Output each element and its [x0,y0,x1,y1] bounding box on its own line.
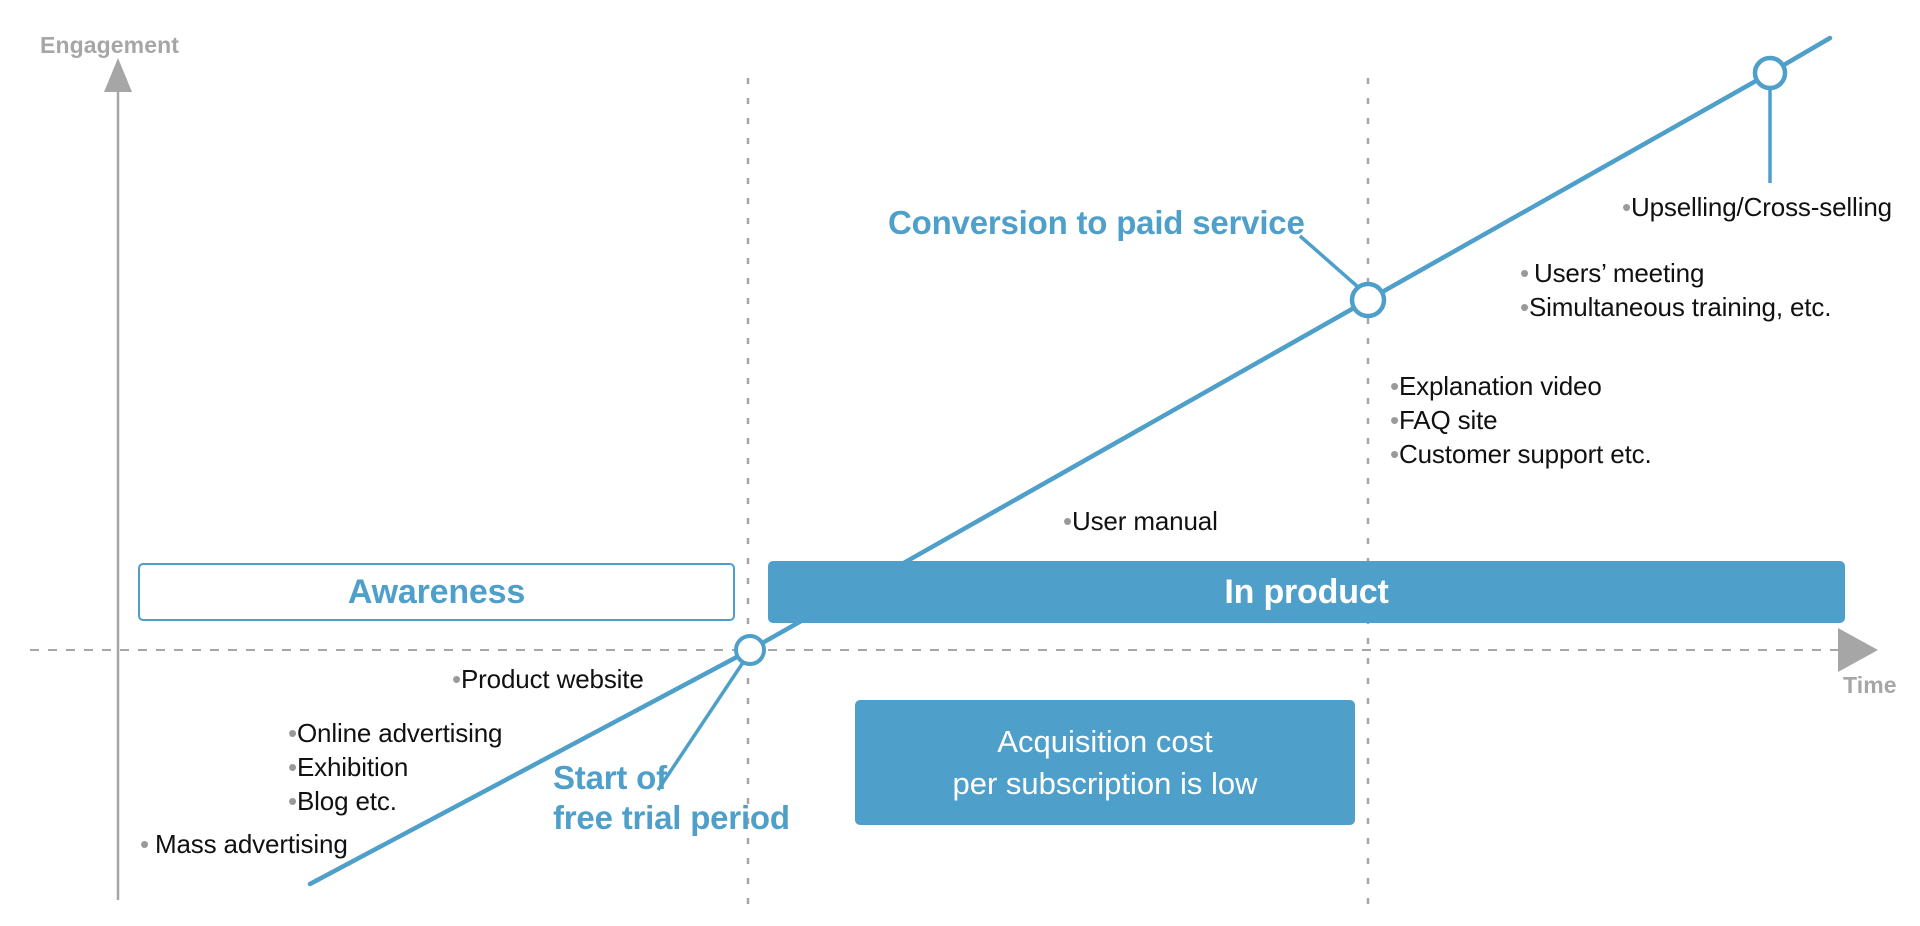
bullet-group-support: •Explanation video •FAQ site •Customer s… [1390,369,1652,471]
callout-start-free-trial: Start of free trial period [553,758,790,838]
callout-start-free-trial-line-2: free trial period [553,798,790,838]
bullet-product-website: •Product website [452,662,644,696]
bullet-upselling: •Upselling/Cross-selling [1622,190,1892,224]
y-axis-label: Engagement [40,32,179,59]
bullet-dot-icon: • [1063,506,1072,536]
bullet-exhibition-label: Exhibition [297,752,408,782]
list-item: •Customer support etc. [1390,437,1652,471]
bullet-mass-advertising-label: Mass advertising [149,829,348,859]
callout-conversion-to-paid-service: Conversion to paid service [888,203,1305,243]
phase-box-awareness-label: Awareness [348,573,525,612]
acquisition-cost-line-1: Acquisition cost [997,721,1212,763]
y-axis-arrow-icon [104,58,132,92]
bullet-blog-label: Blog etc. [297,786,397,816]
bullet-dot-icon: • [288,718,297,748]
bullet-dot-icon: • [1622,192,1631,222]
bullet-faq-site-label: FAQ site [1399,405,1498,435]
bullet-mass-advertising: •Mass advertising [140,827,348,861]
list-item: •Blog etc. [288,784,502,818]
bullet-dot-icon: • [288,752,297,782]
leader-line-conversion [1300,236,1366,294]
bullet-product-website-label: Product website [461,664,644,694]
bullet-dot-icon: • [1390,371,1399,401]
bullet-group-engagement: •Users’ meeting •Simultaneous training, … [1520,256,1831,324]
bullet-dot-icon: • [288,786,297,816]
x-axis-label: Time [1843,672,1897,699]
list-item: •Users’ meeting [1520,256,1831,290]
bullet-dot-icon: • [452,664,461,694]
marker-upselling [1755,58,1785,88]
bullet-dot-icon: • [1520,292,1529,322]
bullet-dot-icon: • [1390,439,1399,469]
list-item: •Explanation video [1390,369,1652,403]
list-item: •Simultaneous training, etc. [1520,290,1831,324]
acquisition-cost-box[interactable]: Acquisition cost per subscription is low [855,700,1355,825]
list-item: •Exhibition [288,750,502,784]
list-item: •FAQ site [1390,403,1652,437]
diagram-canvas: Engagement Time Awareness In product Acq… [0,0,1920,926]
bullet-users-meeting-label: Users’ meeting [1529,258,1704,288]
phase-box-in-product-label: In product [1224,573,1388,612]
bullet-online-advertising-label: Online advertising [297,718,502,748]
bullet-group-awareness: •Online advertising •Exhibition •Blog et… [288,716,502,818]
acquisition-cost-line-2: per subscription is low [953,763,1258,805]
bullet-customer-support-label: Customer support etc. [1399,439,1652,469]
bullet-dot-icon: • [1390,405,1399,435]
bullet-simultaneous-training-label: Simultaneous training, etc. [1529,292,1831,322]
bullet-user-manual: •User manual [1063,504,1218,538]
x-axis-arrow-icon [1838,628,1878,672]
marker-conversion [1352,284,1384,316]
bullet-explanation-video-label: Explanation video [1399,371,1602,401]
phase-box-awareness[interactable]: Awareness [138,563,735,621]
bullet-dot-icon: • [140,829,149,859]
bullet-dot-icon: • [1520,258,1529,288]
bullet-upselling-label: Upselling/Cross-selling [1631,192,1892,222]
list-item: •Online advertising [288,716,502,750]
phase-box-in-product[interactable]: In product [768,561,1845,623]
bullet-user-manual-label: User manual [1072,506,1218,536]
marker-start-trial [736,636,764,664]
callout-start-free-trial-line-1: Start of [553,758,790,798]
